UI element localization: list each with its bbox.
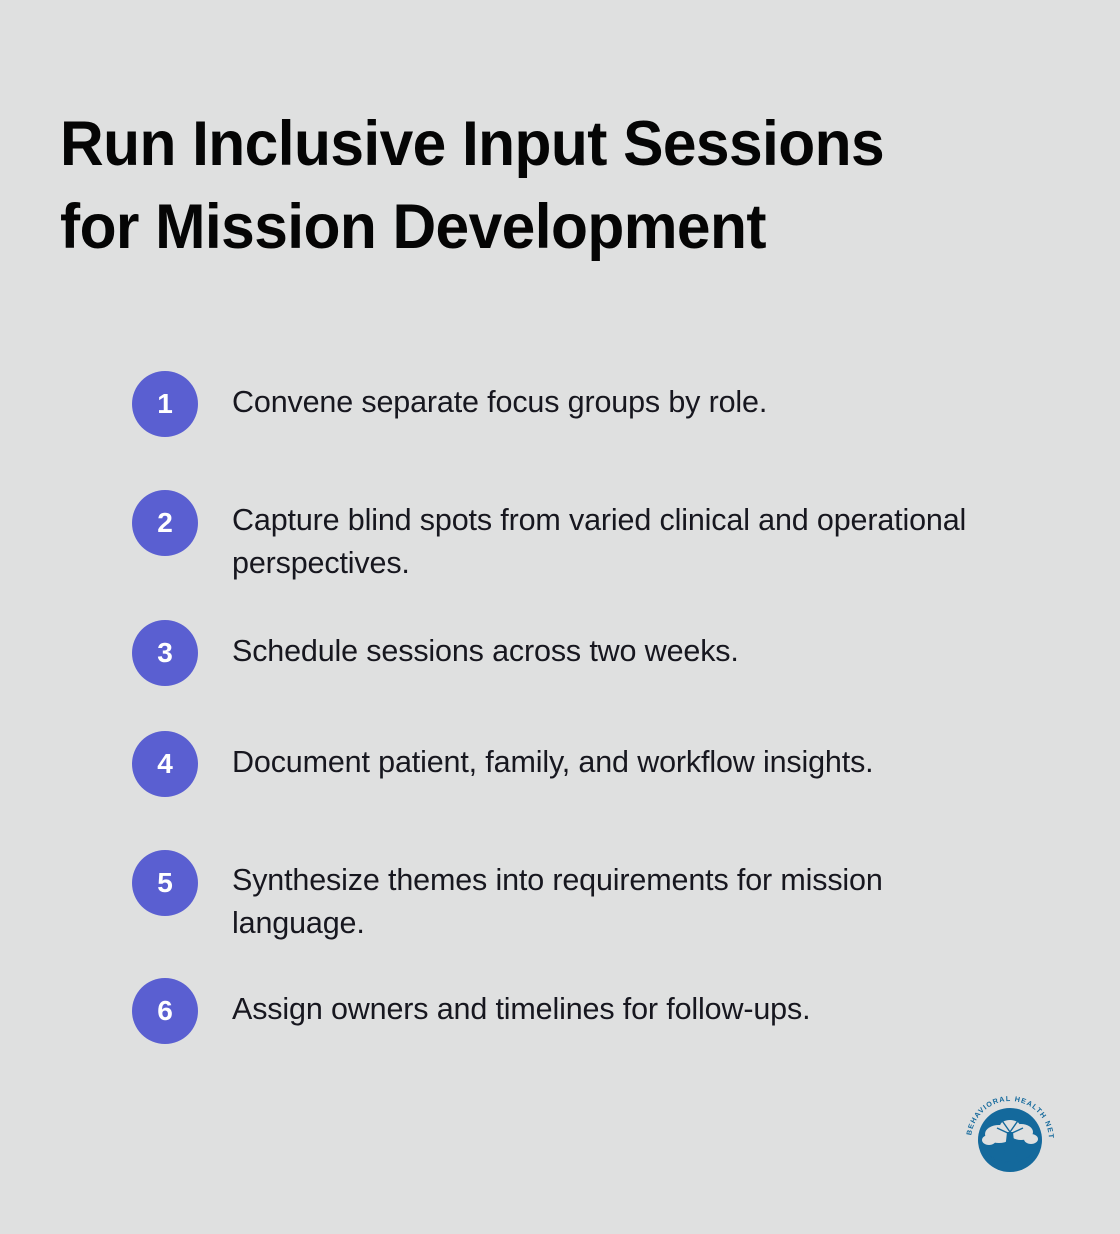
step-text: Assign owners and timelines for follow-u…: [232, 977, 967, 1031]
list-item: 4 Document patient, family, and workflow…: [132, 730, 1032, 797]
list-item: 1 Convene separate focus groups by role.: [132, 370, 1032, 437]
step-number-badge: 3: [132, 620, 198, 686]
list-item: 3 Schedule sessions across two weeks.: [132, 619, 1032, 686]
step-text: Schedule sessions across two weeks.: [232, 619, 967, 673]
step-number-badge: 4: [132, 731, 198, 797]
poster-canvas: Run Inclusive Input Sessions for Mission…: [0, 0, 1120, 1234]
list-item: 5 Synthesize themes into requirements fo…: [132, 849, 1032, 945]
steps-list: 1 Convene separate focus groups by role.…: [132, 370, 1032, 1044]
step-number-badge: 1: [132, 371, 198, 437]
step-number-badge: 2: [132, 490, 198, 556]
step-text: Convene separate focus groups by role.: [232, 370, 967, 424]
step-text: Synthesize themes into requirements for …: [232, 849, 967, 945]
step-number-badge: 6: [132, 978, 198, 1044]
step-text: Document patient, family, and workflow i…: [232, 730, 967, 784]
list-item: 2 Capture blind spots from varied clinic…: [132, 489, 1032, 585]
step-number-badge: 5: [132, 850, 198, 916]
page-title: Run Inclusive Input Sessions for Mission…: [60, 103, 982, 269]
brand-logo: AMITY BEHAVIORAL HEALTH NETWORK: [959, 1088, 1077, 1183]
list-item: 6 Assign owners and timelines for follow…: [132, 977, 1032, 1044]
step-text: Capture blind spots from varied clinical…: [232, 489, 967, 585]
